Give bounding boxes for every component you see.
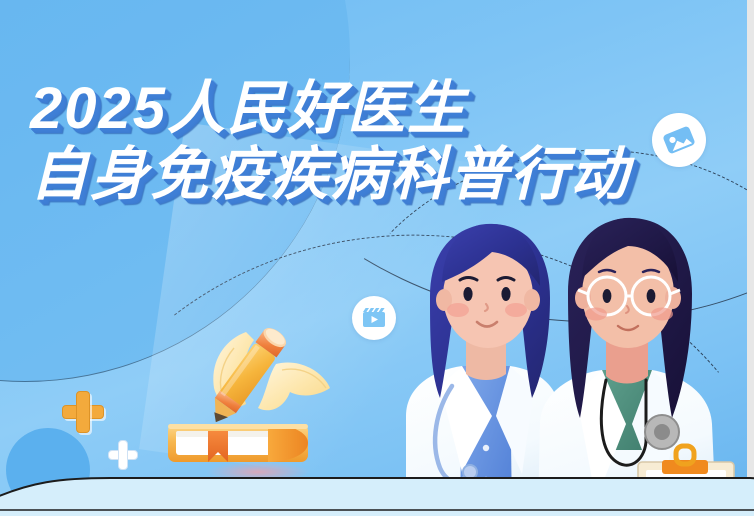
- image-icon[interactable]: [652, 113, 706, 167]
- desk-illustration: [0, 470, 754, 516]
- poster-title: 2025人民好医生 自身免疫疾病科普行动: [30, 78, 630, 206]
- video-icon-glyph: [360, 304, 388, 332]
- plus-orange-decoration: [62, 391, 104, 433]
- image-icon-glyph: [661, 122, 697, 158]
- video-clapperboard-icon[interactable]: [352, 296, 396, 340]
- poster-canvas: 2025人民好医生 自身免疫疾病科普行动: [0, 0, 754, 516]
- poster-title-line-1: 2025人民好医生: [30, 78, 630, 140]
- book: [168, 424, 308, 462]
- plus-white-decoration: [108, 440, 138, 470]
- poster-title-line-2: 自身免疫疾病科普行动: [30, 144, 630, 206]
